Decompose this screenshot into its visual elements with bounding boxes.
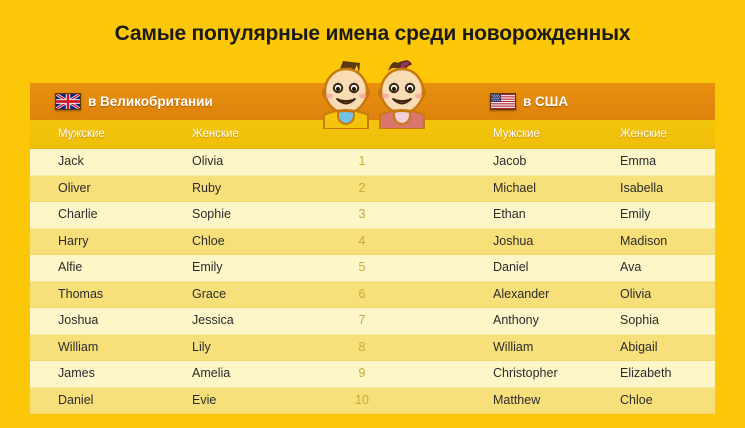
table-body: JackOlivia1JacobEmmaOliverRuby2MichaelIs…: [30, 149, 715, 414]
table-row: ThomasGrace6AlexanderOlivia: [30, 282, 715, 309]
cell-rank: 1: [337, 149, 387, 174]
cell-us-male: Michael: [493, 176, 536, 201]
uk-flag-icon: [55, 93, 81, 110]
cell-uk-female: Lily: [192, 335, 211, 360]
cell-uk-male: Alfie: [58, 255, 82, 280]
cell-us-male: Matthew: [493, 388, 540, 413]
cell-uk-male: Thomas: [58, 282, 103, 307]
table-row: OliverRuby2MichaelIsabella: [30, 176, 715, 203]
cell-rank: 4: [337, 229, 387, 254]
cell-us-male: William: [493, 335, 533, 360]
cell-uk-female: Chloe: [192, 229, 225, 254]
table-row: JamesAmelia9ChristopherElizabeth: [30, 361, 715, 388]
column-header-us-female: Женские: [620, 120, 667, 148]
table-row: HarryChloe4JoshuaMadison: [30, 229, 715, 256]
cell-us-female: Emma: [620, 149, 656, 174]
baby-girl-icon: [379, 61, 425, 129]
cell-us-female: Abigail: [620, 335, 658, 360]
cell-rank: 6: [337, 282, 387, 307]
cell-rank: 9: [337, 361, 387, 386]
cell-uk-male: Oliver: [58, 176, 91, 201]
cell-uk-male: Jack: [58, 149, 84, 174]
cell-uk-female: Sophie: [192, 202, 231, 227]
cell-uk-female: Evie: [192, 388, 216, 413]
cell-us-male: Christopher: [493, 361, 558, 386]
country-label-us: в США: [523, 94, 568, 109]
cell-us-female: Elizabeth: [620, 361, 671, 386]
cell-rank: 2: [337, 176, 387, 201]
cell-uk-female: Amelia: [192, 361, 230, 386]
us-flag-icon: [490, 93, 516, 110]
cell-uk-male: Daniel: [58, 388, 93, 413]
cell-rank: 3: [337, 202, 387, 227]
cell-us-male: Alexander: [493, 282, 549, 307]
cell-us-female: Ava: [620, 255, 641, 280]
cell-rank: 5: [337, 255, 387, 280]
page-title: Самые популярные имена среди новорожденн…: [0, 22, 745, 46]
table-row: JackOlivia1JacobEmma: [30, 149, 715, 176]
country-header-uk: в Великобритании: [55, 83, 213, 120]
infographic-page: Самые популярные имена среди новорожденн…: [0, 0, 745, 428]
cell-uk-female: Jessica: [192, 308, 234, 333]
cell-uk-female: Olivia: [192, 149, 223, 174]
cell-us-male: Daniel: [493, 255, 528, 280]
cell-uk-male: James: [58, 361, 95, 386]
mascot-babies: [316, 57, 432, 129]
cell-uk-female: Ruby: [192, 176, 221, 201]
cell-us-male: Joshua: [493, 229, 533, 254]
cell-uk-male: Charlie: [58, 202, 98, 227]
table-row: DanielEvie10MatthewChloe: [30, 388, 715, 415]
cell-uk-female: Emily: [192, 255, 223, 280]
table-row: AlfieEmily5DanielAva: [30, 255, 715, 282]
column-header-uk-female: Женские: [192, 120, 239, 148]
country-header-us: в США: [490, 83, 568, 120]
cell-us-female: Isabella: [620, 176, 663, 201]
cell-us-female: Madison: [620, 229, 667, 254]
cell-us-male: Anthony: [493, 308, 539, 333]
baby-boy-icon: [323, 61, 369, 129]
cell-uk-male: Joshua: [58, 308, 98, 333]
cell-us-female: Emily: [620, 202, 651, 227]
cell-us-male: Jacob: [493, 149, 526, 174]
table-row: WilliamLily8WilliamAbigail: [30, 335, 715, 362]
cell-us-female: Chloe: [620, 388, 653, 413]
column-header-uk-male: Мужские: [58, 120, 105, 148]
cell-uk-male: Harry: [58, 229, 89, 254]
column-header-us-male: Мужские: [493, 120, 540, 148]
cell-us-female: Sophia: [620, 308, 659, 333]
cell-rank: 10: [337, 388, 387, 413]
country-label-uk: в Великобритании: [88, 94, 213, 109]
baby-pair-illustration: [316, 57, 432, 129]
cell-us-female: Olivia: [620, 282, 651, 307]
cell-us-male: Ethan: [493, 202, 526, 227]
cell-rank: 8: [337, 335, 387, 360]
cell-uk-male: William: [58, 335, 98, 360]
names-table: в Великобритании: [30, 83, 715, 413]
cell-uk-female: Grace: [192, 282, 226, 307]
cell-rank: 7: [337, 308, 387, 333]
table-row: JoshuaJessica7AnthonySophia: [30, 308, 715, 335]
table-row: CharlieSophie3EthanEmily: [30, 202, 715, 229]
